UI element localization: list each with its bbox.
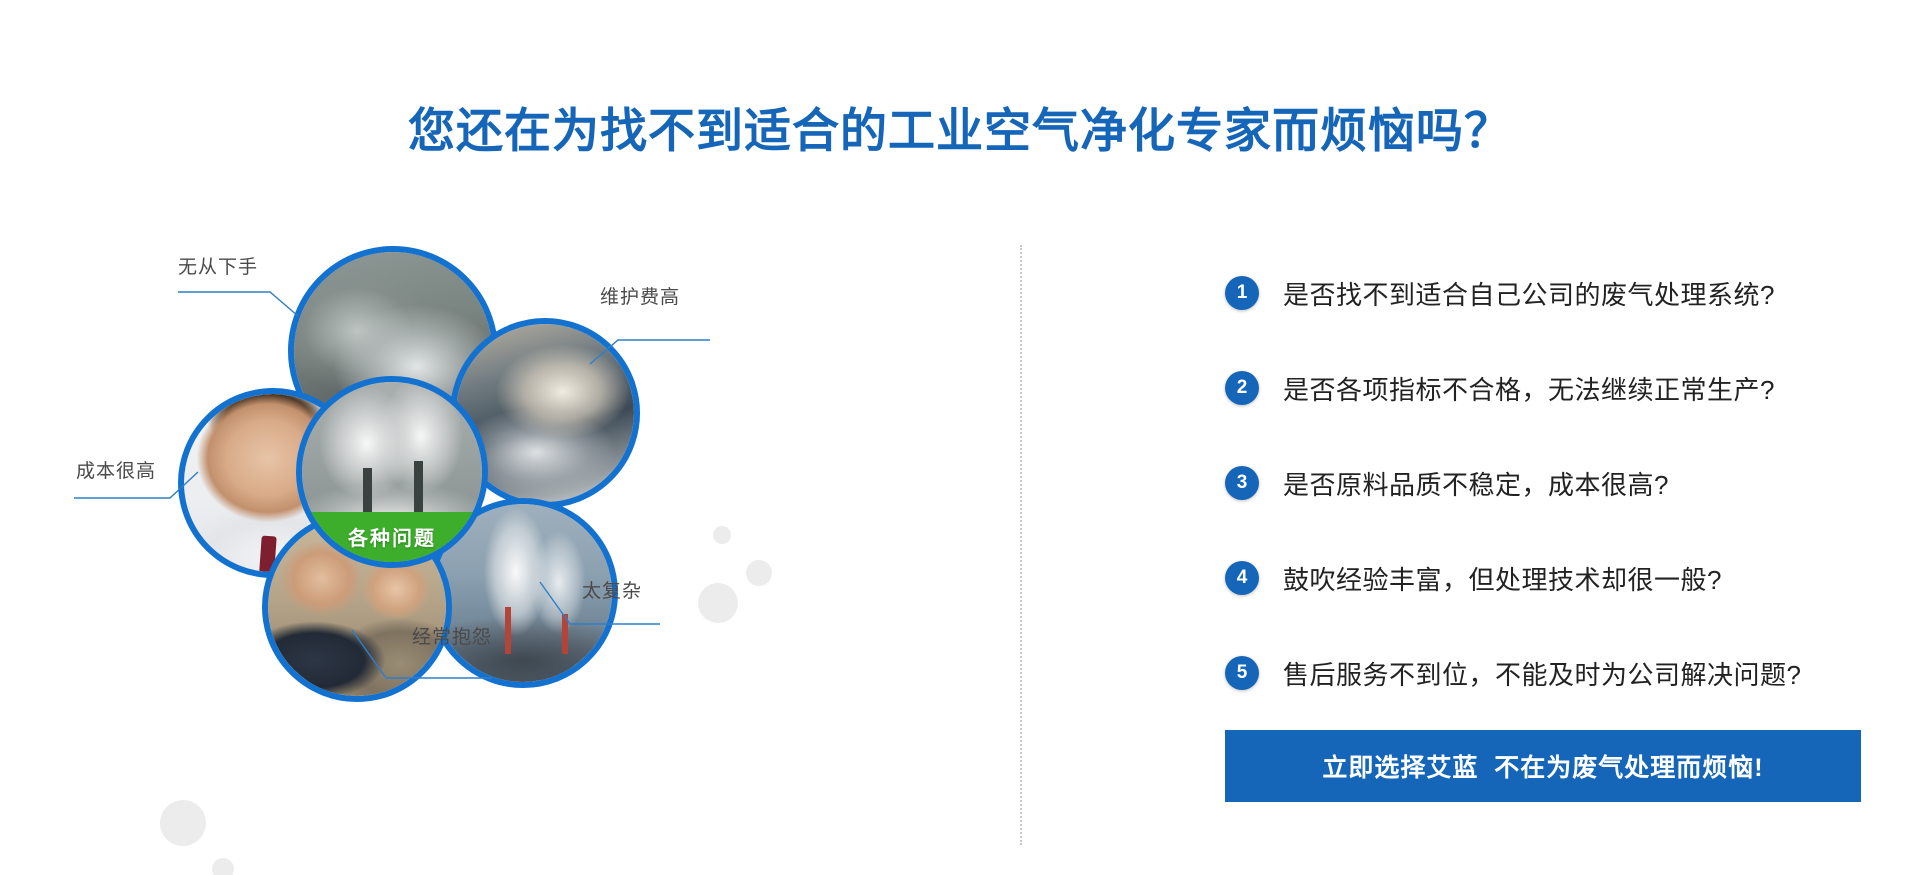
list-item-number: 3 bbox=[1225, 466, 1259, 500]
list-item-number: 1 bbox=[1225, 276, 1259, 310]
list-item: 4 鼓吹经验丰富，但处理技术却很一般? bbox=[1225, 547, 1865, 609]
list-item: 3 是否原料品质不稳定，成本很高? bbox=[1225, 452, 1865, 514]
callout-label-bottom: 经常抱怨 bbox=[412, 622, 492, 649]
callout-label-top-left: 无从下手 bbox=[178, 252, 258, 279]
list-item-label: 是否原料品质不稳定，成本很高? bbox=[1283, 465, 1669, 502]
list-item-number: 5 bbox=[1225, 656, 1259, 690]
page-title: 您还在为找不到适合的工业空气净化专家而烦恼吗？ bbox=[0, 92, 1920, 161]
problem-circles-diagram: 各种问题 无从 bbox=[0, 230, 1010, 870]
promo-banner-page: 您还在为找不到适合的工业空气净化专家而烦恼吗？ bbox=[0, 0, 1920, 875]
list-item-label: 是否各项指标不合格，无法继续正常生产? bbox=[1283, 370, 1775, 407]
list-item-label: 鼓吹经验丰富，但处理技术却很一般? bbox=[1283, 560, 1722, 597]
center-badge: 各种问题 bbox=[302, 512, 482, 562]
decorative-dot bbox=[713, 526, 731, 544]
section-divider bbox=[1020, 245, 1022, 845]
list-item-number: 2 bbox=[1225, 371, 1259, 405]
decorative-dot bbox=[212, 858, 234, 875]
chimney-detail bbox=[505, 607, 511, 653]
decorative-dot bbox=[160, 800, 206, 846]
callout-label-top-right: 维护费高 bbox=[600, 282, 680, 309]
cta-banner[interactable]: 立即选择艾蓝 不在为废气处理而烦恼! bbox=[1225, 730, 1861, 802]
center-badge-label: 各种问题 bbox=[348, 522, 436, 551]
question-list: 1 是否找不到适合自己公司的废气处理系统? 2 是否各项指标不合格，无法继续正常… bbox=[1225, 262, 1865, 737]
decorative-dot bbox=[746, 560, 772, 586]
cta-banner-label: 立即选择艾蓝 不在为废气处理而烦恼! bbox=[1322, 748, 1763, 784]
list-item: 2 是否各项指标不合格，无法继续正常生产? bbox=[1225, 357, 1865, 419]
list-item-label: 是否找不到适合自己公司的废气处理系统? bbox=[1283, 275, 1775, 312]
list-item: 5 售后服务不到位，不能及时为公司解决问题? bbox=[1225, 642, 1865, 704]
list-item: 1 是否找不到适合自己公司的废气处理系统? bbox=[1225, 262, 1865, 324]
decorative-dot bbox=[698, 583, 738, 623]
list-item-number: 4 bbox=[1225, 561, 1259, 595]
leader-line-top-left bbox=[178, 274, 318, 316]
callout-label-bottom-right: 太复杂 bbox=[582, 576, 642, 603]
leader-line-top-right bbox=[580, 322, 710, 364]
callout-label-left: 成本很高 bbox=[76, 456, 156, 483]
list-item-label: 售后服务不到位，不能及时为公司解决问题? bbox=[1283, 655, 1801, 692]
photo-circle-center: 各种问题 bbox=[296, 376, 488, 568]
